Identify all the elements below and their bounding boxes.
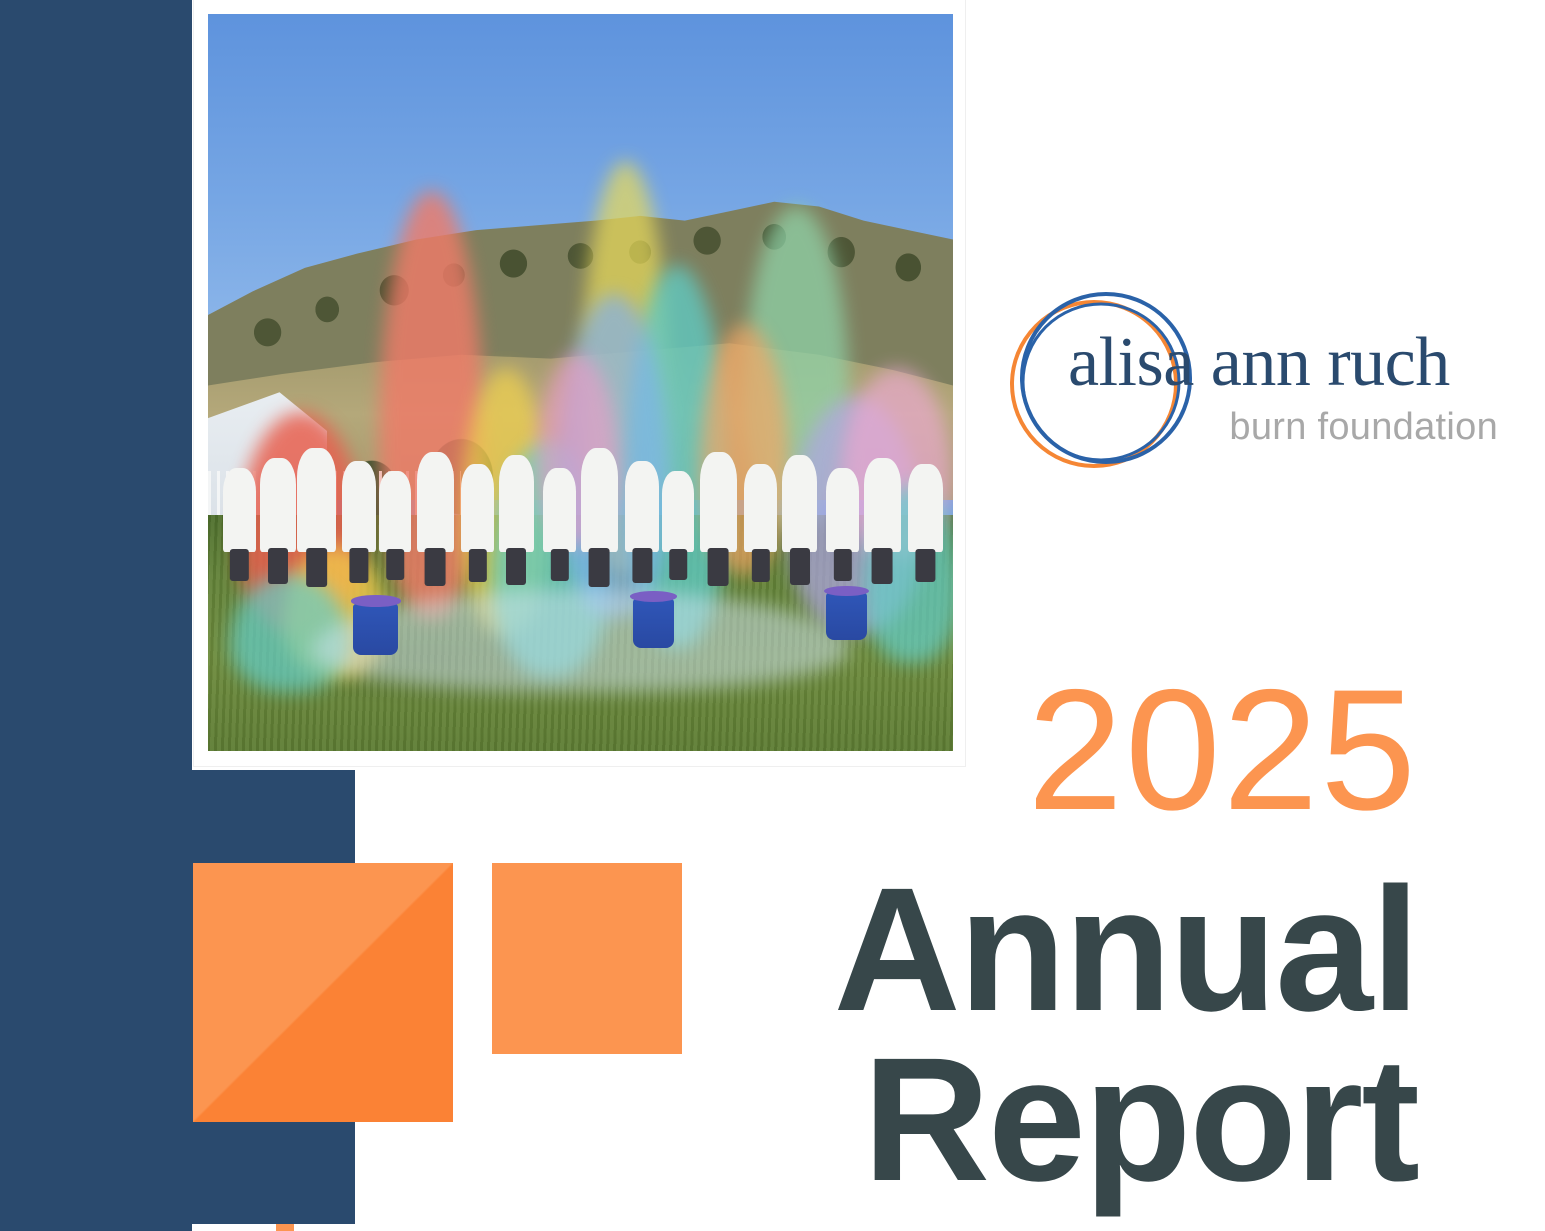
crowd-person xyxy=(581,448,618,552)
crowd-person xyxy=(499,455,535,552)
powder-bucket xyxy=(826,593,866,640)
logo-wordmark: alisa ann ruch xyxy=(1068,328,1498,398)
crowd-person xyxy=(223,468,256,552)
cover-photo xyxy=(208,14,953,751)
crowd-person xyxy=(744,464,777,552)
crowd-person xyxy=(417,452,454,553)
crowd-person xyxy=(625,461,659,552)
crowd-person xyxy=(543,468,576,552)
crowd-person xyxy=(260,458,296,552)
crowd-person xyxy=(297,448,336,552)
powder-bucket xyxy=(353,604,398,656)
report-cover-page: alisa ann ruch burn foundation 2025 Annu… xyxy=(0,0,1545,1231)
crowd-person xyxy=(908,464,942,552)
crowd-person xyxy=(379,471,410,552)
crowd-person xyxy=(342,461,376,552)
powder-bucket xyxy=(633,599,675,648)
crowd-person xyxy=(461,464,494,552)
crowd-person xyxy=(700,452,737,553)
organization-logo: alisa ann ruch burn foundation xyxy=(1000,282,1500,482)
report-title-line-1: Annual xyxy=(0,862,1418,1038)
crowd-person xyxy=(864,458,901,552)
bottom-white-band xyxy=(202,1224,532,1231)
photo-crowd xyxy=(208,390,953,552)
crowd-person xyxy=(782,455,818,552)
logo-tagline: burn foundation xyxy=(1068,408,1498,446)
report-year: 2025 xyxy=(0,664,1418,836)
bottom-orange-tick xyxy=(276,1224,294,1231)
report-title-line-2: Report xyxy=(0,1032,1418,1208)
crowd-person xyxy=(826,468,859,552)
crowd-person xyxy=(662,471,693,552)
